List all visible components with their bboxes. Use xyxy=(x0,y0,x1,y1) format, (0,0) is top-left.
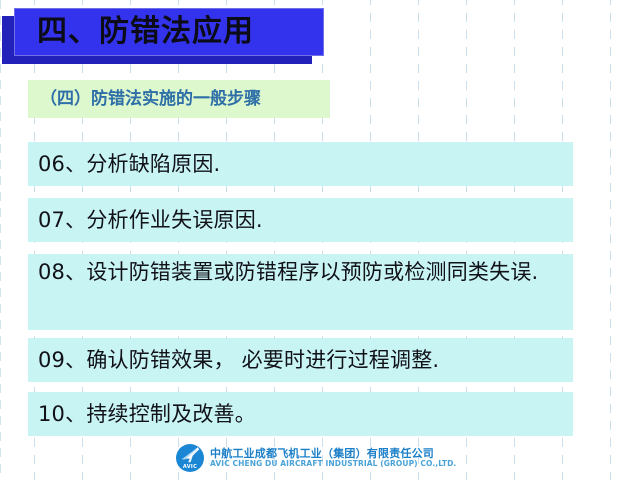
step-row-06: 06、分析缺陷原因. xyxy=(28,142,573,186)
step-row-07: 07、分析作业失误原因. xyxy=(28,198,573,242)
step-row-10: 10、持续控制及改善。 xyxy=(28,392,573,436)
step-text-09: 09、确认防错效果， 必要时进行过程调整. xyxy=(28,347,445,374)
company-name-cn: 中航工业成都飞机工业（集团）有限责任公司 xyxy=(210,448,456,460)
avic-aircraft-logo-icon: AVIC xyxy=(176,444,204,472)
title-banner: 四、防错法应用 xyxy=(14,8,324,56)
grid-column-line xyxy=(610,0,611,480)
step-text-10: 10、持续控制及改善。 xyxy=(28,401,262,428)
title-banner-group: 四、防错法应用 xyxy=(14,8,324,56)
step-row-09: 09、确认防错效果， 必要时进行过程调整. xyxy=(28,338,573,382)
emblem-avic-label: AVIC xyxy=(176,465,204,470)
subtitle-label: （四）防错法实施的一般步骤 xyxy=(28,91,261,108)
subtitle-box: （四）防错法实施的一般步骤 xyxy=(28,80,330,118)
step-text-07: 07、分析作业失误原因. xyxy=(28,207,269,234)
company-name-en: AVIC CHENG DU AIRCRAFT INDUSTRIAL (GROUP… xyxy=(210,460,456,468)
footer-logo: AVIC 中航工业成都飞机工业（集团）有限责任公司 AVIC CHENG DU … xyxy=(176,444,456,472)
page-title: 四、防错法应用 xyxy=(15,17,254,47)
slide-canvas: 四、防错法应用 （四）防错法实施的一般步骤 06、分析缺陷原因. 07、分析作业… xyxy=(0,0,640,480)
step-row-08: 08、设计防错装置或防错程序以预防或检测同类失误. xyxy=(28,254,573,330)
step-text-06: 06、分析缺陷原因. xyxy=(28,151,226,178)
step-text-08: 08、设计防错装置或防错程序以预防或检测同类失误. xyxy=(28,254,544,286)
footer-logo-text: 中航工业成都飞机工业（集团）有限责任公司 AVIC CHENG DU AIRCR… xyxy=(210,448,456,469)
